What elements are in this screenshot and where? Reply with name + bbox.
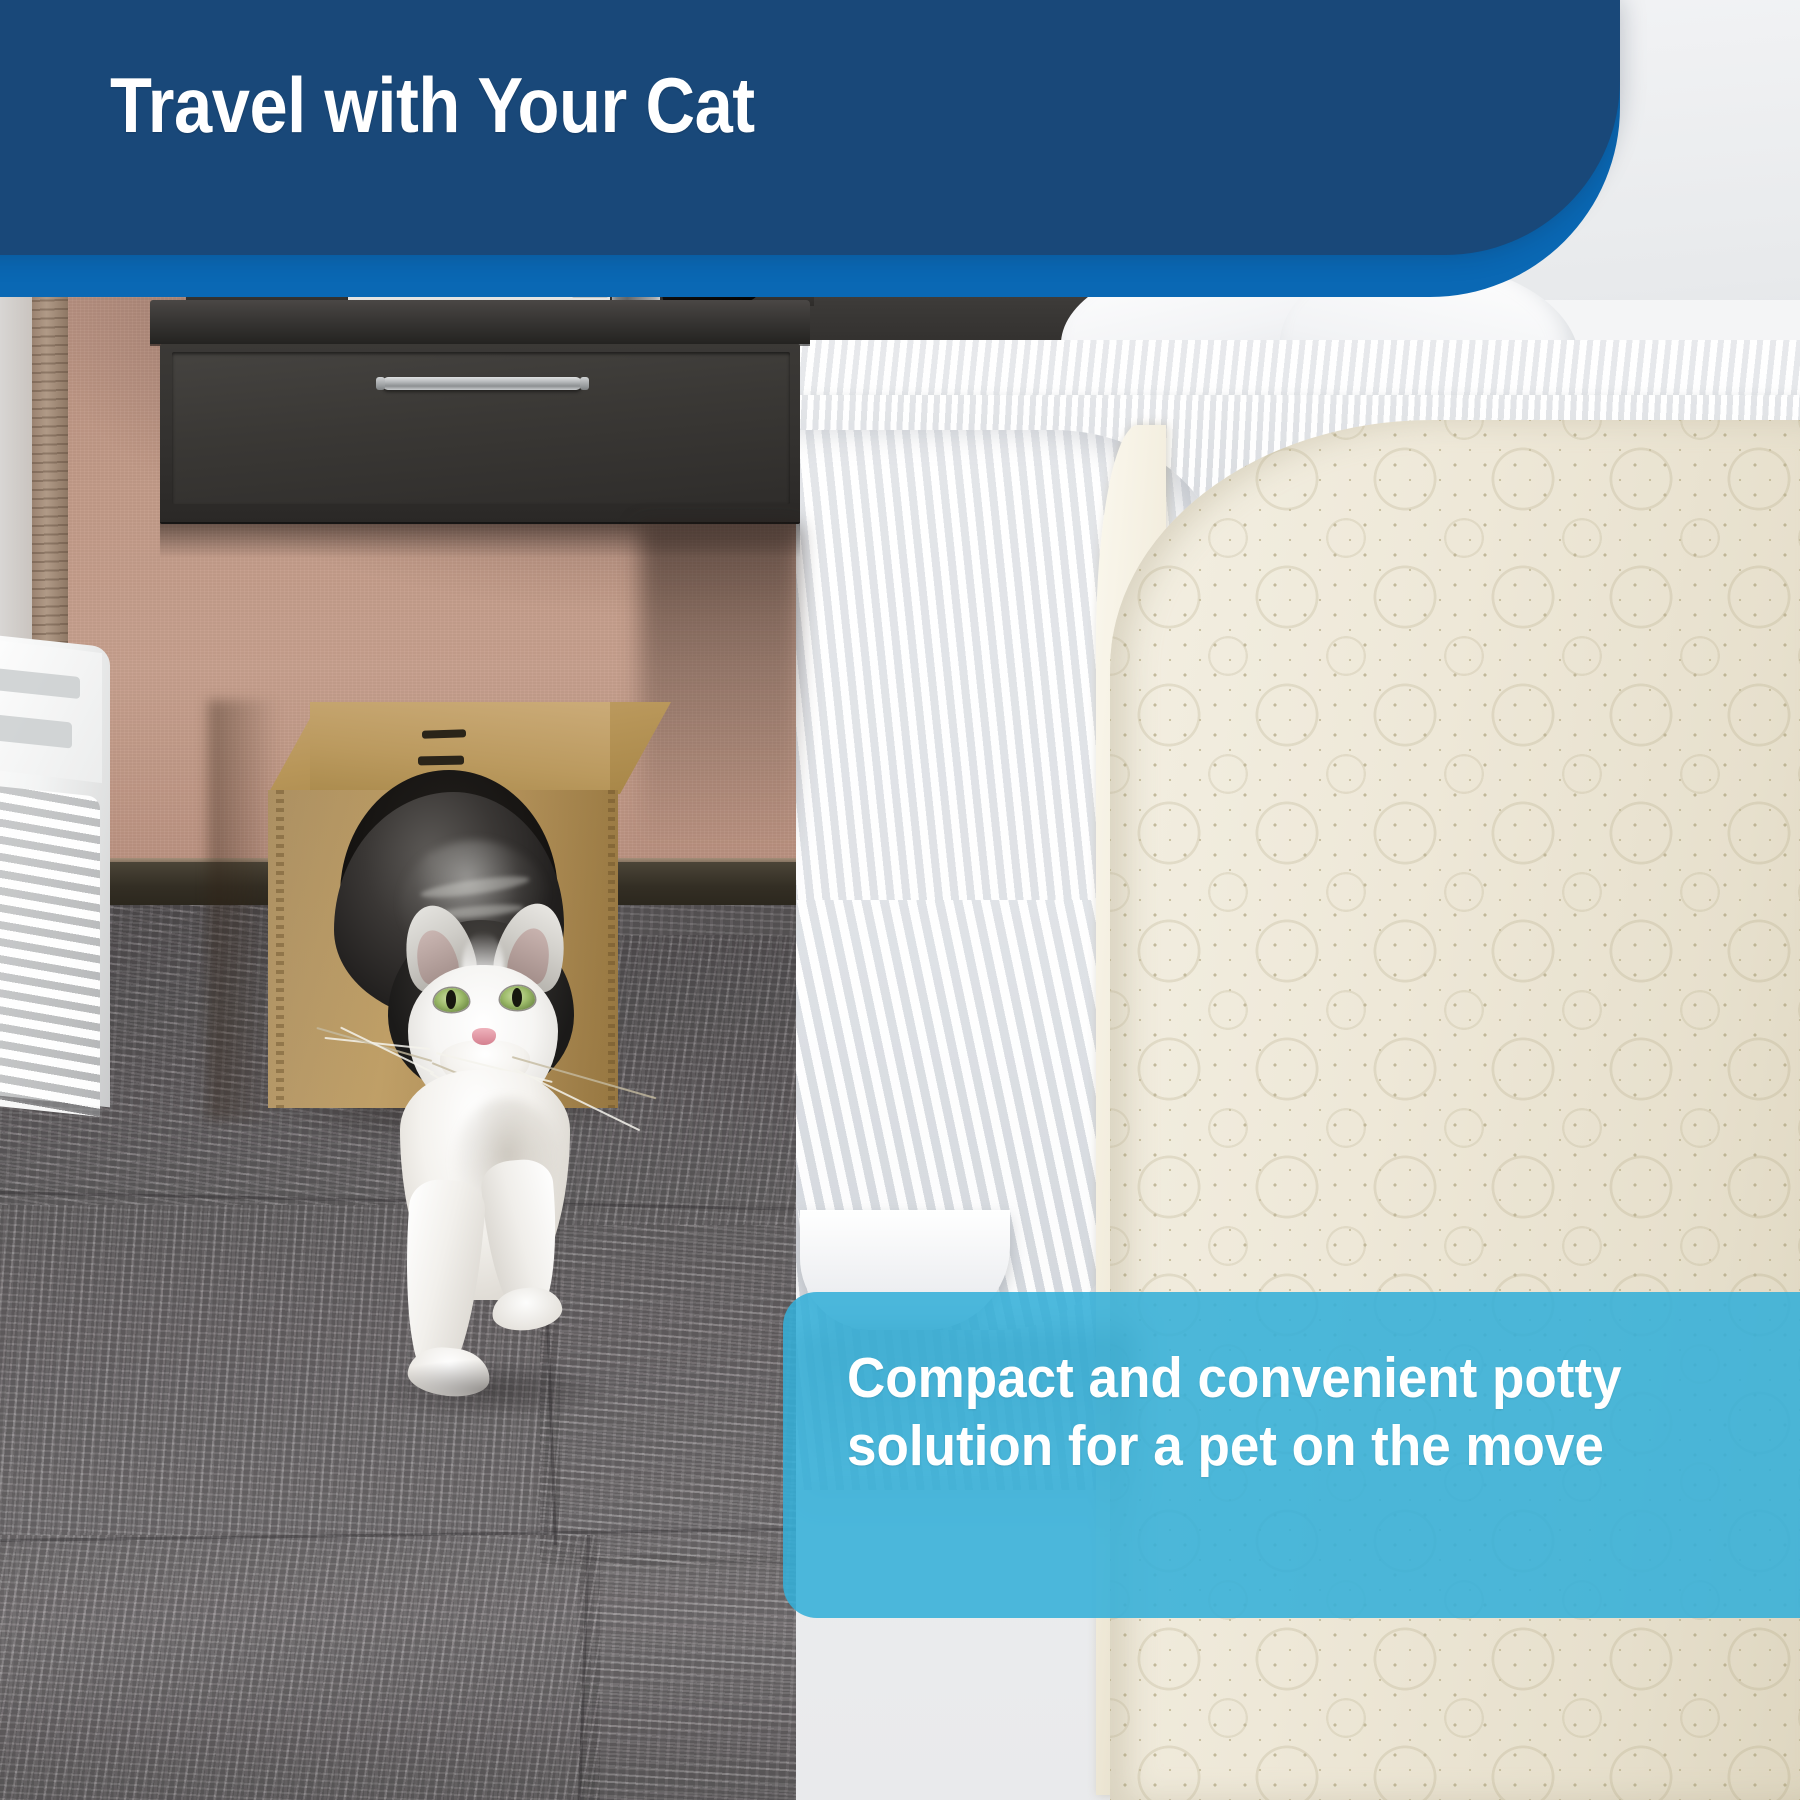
drawer-handle-cap: [376, 377, 385, 390]
box-right-crease: [608, 790, 615, 1108]
drawer-handle-cap: [580, 377, 589, 390]
cat-pupil-left: [446, 990, 456, 1009]
box-left-crease: [276, 790, 284, 1108]
box-vent-slot: [418, 756, 464, 766]
product-lifestyle-image: Travel with Your Cat Compact and conveni…: [0, 0, 1800, 1800]
cat-nose: [472, 1028, 496, 1045]
wall-heater-top: [0, 637, 102, 783]
box-vent-slot: [422, 729, 466, 739]
feature-caption-text: Compact and convenient potty solution fo…: [847, 1344, 1677, 1481]
nightstand-top: [150, 300, 810, 344]
nightstand-drawer[interactable]: [172, 352, 790, 504]
page-title: Travel with Your Cat: [110, 60, 1166, 151]
drawer-handle[interactable]: [382, 377, 582, 390]
wall-heater-fins: [0, 783, 100, 1117]
cat-floor-shadow: [370, 1360, 610, 1420]
cat-pupil-right: [512, 988, 522, 1007]
feature-caption-box: Compact and convenient potty solution fo…: [783, 1292, 1800, 1618]
wall-shadow: [640, 525, 800, 855]
